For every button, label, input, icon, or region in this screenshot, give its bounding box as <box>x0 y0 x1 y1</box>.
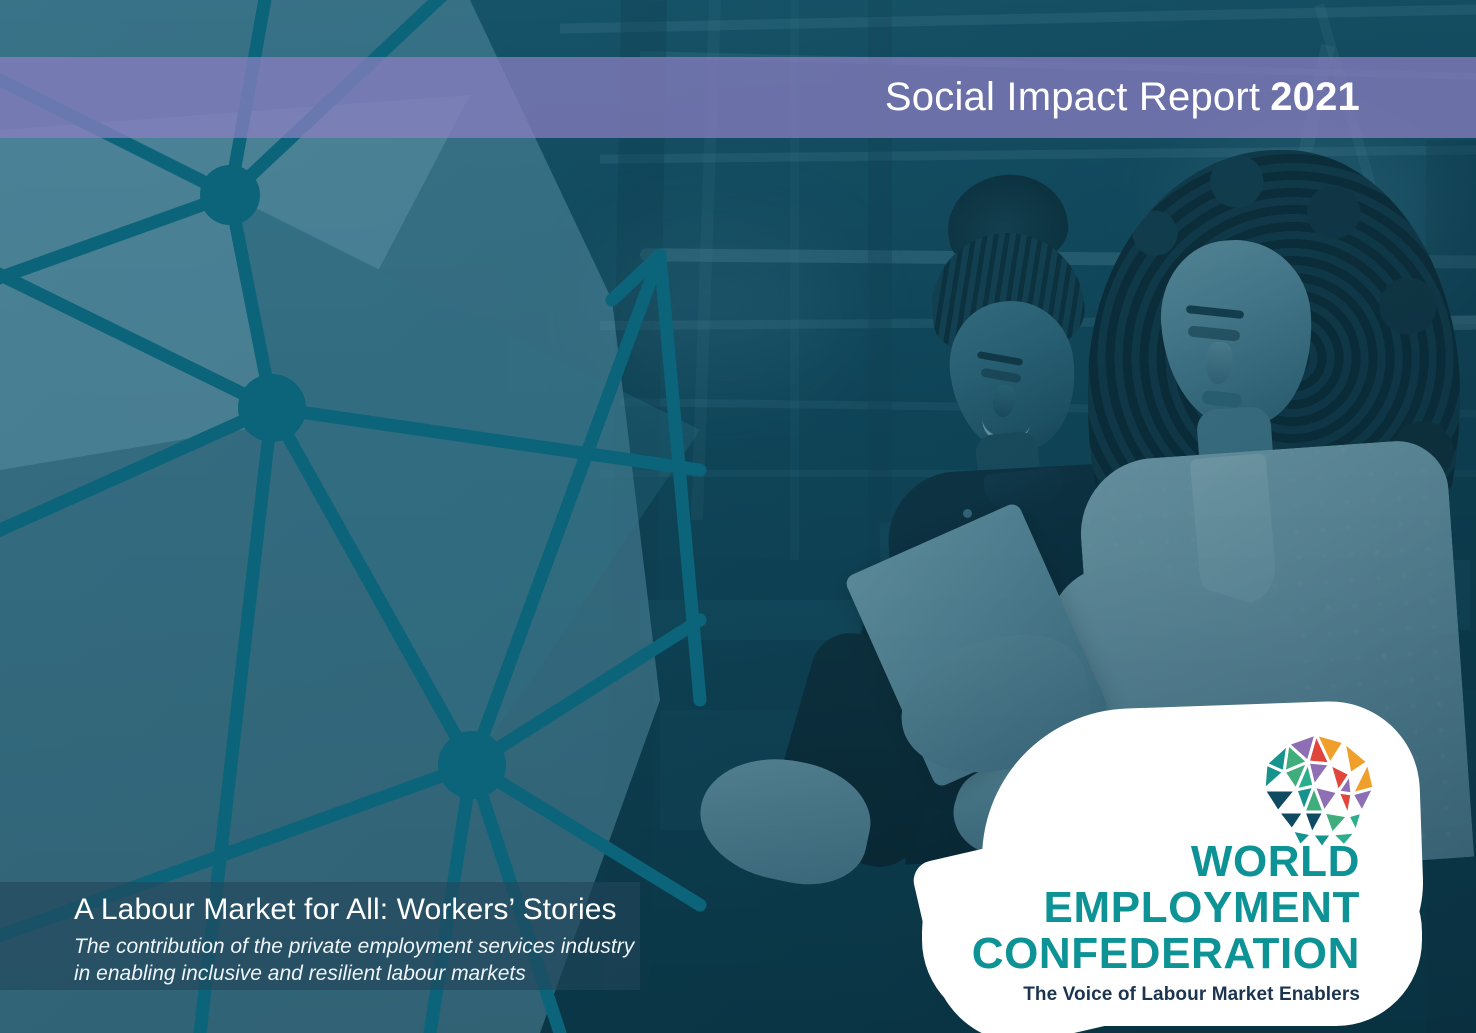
report-year: 2021 <box>1270 75 1360 119</box>
network-graphic <box>0 0 720 1033</box>
report-cover: Social Impact Report2021 A Labour Market… <box>0 0 1476 1033</box>
logo-name-line-2: EMPLOYMENT <box>1044 886 1422 930</box>
logo-text-block: WORLD EMPLOYMENT CONFEDERATION The Voice… <box>922 706 1422 1026</box>
wec-logo: WORLD EMPLOYMENT CONFEDERATION The Voice… <box>922 706 1422 1026</box>
page-title: A Labour Market for All: Workers’ Storie… <box>74 893 794 927</box>
network-node <box>438 731 506 799</box>
header-band: Social Impact Report2021 <box>0 57 1476 138</box>
logo-name-line-1: WORLD <box>1191 840 1422 884</box>
logo-tagline: The Voice of Labour Market Enablers <box>1023 984 1422 1006</box>
logo-name-line-3: CONFEDERATION <box>972 932 1422 976</box>
header-title: Social Impact Report2021 <box>885 75 1476 120</box>
page-subtitle-line-2: in enabling inclusive and resilient labo… <box>74 961 794 988</box>
title-block: A Labour Market for All: Workers’ Storie… <box>74 893 794 988</box>
report-title-text: Social Impact Report <box>885 75 1260 119</box>
page-subtitle-line-1: The contribution of the private employme… <box>74 934 794 961</box>
network-node <box>200 165 260 225</box>
network-node <box>238 374 306 442</box>
